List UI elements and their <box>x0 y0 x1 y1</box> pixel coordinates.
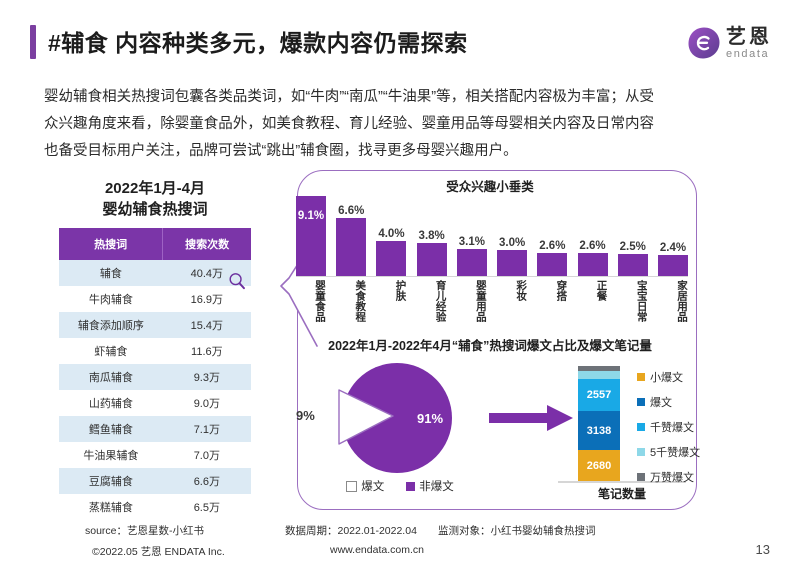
bar-rect <box>618 254 648 276</box>
bar-column[interactable]: 3.0% <box>497 196 527 276</box>
bar-category-label: 宝宝日常 <box>618 280 648 336</box>
pie-label-major: 91% <box>417 411 443 426</box>
cell-count: 7.1万 <box>163 416 251 442</box>
bar-chart-title: 受众兴趣小垂类 <box>315 176 665 195</box>
stack-segment-label: 2557 <box>587 389 611 401</box>
stack-legend-item[interactable]: 爆文 <box>637 394 715 410</box>
legend-swatch-icon <box>406 482 415 491</box>
bar-rect <box>296 196 326 276</box>
bar-rect <box>376 241 406 276</box>
cell-term: 山药辅食 <box>59 390 163 416</box>
bar-column[interactable]: 6.6% <box>336 196 366 276</box>
cell-count: 11.6万 <box>163 338 251 364</box>
stack-segment-label: 3138 <box>587 425 611 437</box>
slide-footer: source：艺恩星数-小红书 数据周期：2022.01-2022.04 监测对… <box>0 515 800 565</box>
legend-swatch-icon <box>346 481 357 492</box>
slide-header: #辅食 内容种类多元，爆款内容仍需探索 艺恩 endata <box>0 0 800 78</box>
table-row[interactable]: 虾辅食 11.6万 <box>59 338 251 364</box>
table-header-row: 热搜词 搜索次数 <box>59 228 251 260</box>
intro-paragraph: 婴幼辅食相关热搜词包囊各类品类词，如“牛肉”“南瓜”“牛油果”等，相关搭配内容极… <box>44 84 654 165</box>
bar-column[interactable]: 2.4% <box>658 196 688 276</box>
bar-rect <box>537 253 567 276</box>
footer-url[interactable]: www.endata.com.cn <box>330 544 424 556</box>
footer-copyright: ©2022.05 艺恩 ENDATA Inc. <box>92 544 225 559</box>
bar-rect <box>497 250 527 276</box>
legend-label: 非爆文 <box>419 478 454 494</box>
table-title-line1: 2022年1月-4月 <box>60 178 250 199</box>
bar-value-label: 2.5% <box>620 241 646 253</box>
stack-segment-label: 2680 <box>587 460 611 472</box>
bar-category-label: 穿搭 <box>537 280 567 336</box>
cell-term: 辅食添加顺序 <box>59 312 163 338</box>
bar-rect <box>457 249 487 276</box>
logo-cn-text: 艺恩 <box>726 27 772 47</box>
bar-category-label: 彩妆 <box>497 280 527 336</box>
cell-term: 鳕鱼辅食 <box>59 416 163 442</box>
legend-label: 小爆文 <box>650 369 683 385</box>
legend-swatch-icon <box>637 398 645 406</box>
page-title: #辅食 内容种类多元，爆款内容仍需探索 <box>48 24 468 58</box>
stack-segment-qianzan: 2557 <box>578 379 620 411</box>
cell-term: 豆腐辅食 <box>59 468 163 494</box>
bar-category-label: 家居用品 <box>658 280 688 336</box>
bar-column[interactable]: 2.5% <box>618 196 648 276</box>
bar-column[interactable]: 3.8% <box>417 196 447 276</box>
legend-label: 5千赞爆文 <box>650 444 700 460</box>
legend-label: 爆文 <box>650 394 672 410</box>
flow-arrow-icon <box>489 404 574 432</box>
page-number: 13 <box>756 542 770 557</box>
table-row[interactable]: 山药辅食 9.0万 <box>59 390 251 416</box>
bar-value-label: 2.6% <box>539 240 565 252</box>
table-row[interactable]: 辅食 40.4万 <box>59 260 251 286</box>
slide: #辅食 内容种类多元，爆款内容仍需探索 艺恩 endata <box>0 0 800 565</box>
pie-chart-title: 2022年1月-2022年4月“辅食”热搜词爆文占比及爆文笔记量 <box>300 335 680 354</box>
table-row[interactable]: 牛油果辅食 7.0万 <box>59 442 251 468</box>
stacked-bar-legend: 小爆文 爆文 千赞爆文 5千赞爆文 万赞爆文 <box>637 369 715 494</box>
endata-logo: 艺恩 endata <box>687 23 772 63</box>
cell-count: 15.4万 <box>163 312 251 338</box>
table-body: 辅食 40.4万 牛肉辅食 16.9万 辅食添加顺序 15.4万 虾辅食 11.… <box>59 260 251 520</box>
table-title-line2: 婴幼辅食热搜词 <box>60 199 250 220</box>
bar-column[interactable]: 9.1% <box>296 196 326 276</box>
legend-label: 千赞爆文 <box>650 419 694 435</box>
cell-count: 9.0万 <box>163 390 251 416</box>
legend-swatch-icon <box>637 373 645 381</box>
stack-segment-baowen: 3138 <box>578 411 620 450</box>
table-row[interactable]: 牛肉辅食 16.9万 <box>59 286 251 312</box>
title-accent-bar <box>30 25 36 59</box>
bar-column[interactable]: 4.0% <box>376 196 406 276</box>
bar-column[interactable]: 2.6% <box>578 196 608 276</box>
bar-column[interactable]: 2.6% <box>537 196 567 276</box>
stack-legend-item[interactable]: 小爆文 <box>637 369 715 385</box>
bar-category-label: 婴童用品 <box>457 280 487 336</box>
stacked-bar-chart[interactable]: 2557 3138 2680 <box>578 366 620 481</box>
bar-category-label: 正餐 <box>578 280 608 336</box>
pie-label-minor: 9% <box>296 408 315 423</box>
bar-category-label: 护肤 <box>376 280 406 336</box>
legend-swatch-icon <box>637 448 645 456</box>
bar-value-label: 4.0% <box>378 228 404 240</box>
bar-chart-bars: 9.1% 6.6% 4.0% 3.8% 3.1% 3.0% 2.6% 2.6% <box>296 196 688 276</box>
pie-legend-item[interactable]: 爆文 <box>346 478 384 494</box>
cell-term: 辅食 <box>59 260 163 286</box>
legend-swatch-icon <box>637 423 645 431</box>
bar-rect <box>336 218 366 276</box>
endata-logo-mark-icon <box>687 26 721 60</box>
bar-chart-axis <box>296 276 688 277</box>
bar-column[interactable]: 3.1% <box>457 196 487 276</box>
logo-en-text: endata <box>726 49 772 60</box>
bar-value-label: 2.6% <box>579 240 605 252</box>
bar-category-label: 育儿经验 <box>417 280 447 336</box>
stack-segment-5qianzan <box>578 371 620 379</box>
bar-rect <box>578 253 608 276</box>
hot-search-table: 热搜词 搜索次数 辅食 40.4万 牛肉辅食 16.9万 辅食添加顺序 15.4… <box>59 228 251 520</box>
bar-value-label: 3.8% <box>419 230 445 242</box>
footer-target: 监测对象：小红书婴幼辅食热搜词 <box>438 523 596 538</box>
table-row[interactable]: 南瓜辅食 9.3万 <box>59 364 251 390</box>
bar-value-label: 3.1% <box>459 236 485 248</box>
table-row[interactable]: 豆腐辅食 6.6万 <box>59 468 251 494</box>
table-title: 2022年1月-4月 婴幼辅食热搜词 <box>60 178 250 220</box>
bar-value-label: 9.1% <box>296 210 326 222</box>
stack-legend-item[interactable]: 5千赞爆文 <box>637 444 715 460</box>
logo-text: 艺恩 endata <box>726 27 772 60</box>
bar-category-label: 美食教程 <box>336 280 366 336</box>
bar-value-label: 2.4% <box>660 242 686 254</box>
cell-term: 南瓜辅食 <box>59 364 163 390</box>
table-col-header-term: 热搜词 <box>59 228 163 260</box>
legend-label: 爆文 <box>361 478 384 494</box>
pie-chart[interactable] <box>325 358 465 478</box>
table-row[interactable]: 鳕鱼辅食 7.1万 <box>59 416 251 442</box>
bar-category-label: 婴童食品 <box>296 280 326 336</box>
cell-count: 6.6万 <box>163 468 251 494</box>
pie-legend: 爆文 非爆文 <box>320 478 480 494</box>
stack-legend-item[interactable]: 万赞爆文 <box>637 469 715 485</box>
bar-rect <box>658 255 688 276</box>
table-col-header-count: 搜索次数 <box>163 228 251 260</box>
legend-label: 万赞爆文 <box>650 469 694 485</box>
cell-term: 虾辅食 <box>59 338 163 364</box>
pie-legend-item[interactable]: 非爆文 <box>406 478 454 494</box>
cell-count: 9.3万 <box>163 364 251 390</box>
cell-count: 16.9万 <box>163 286 251 312</box>
cell-term: 牛肉辅食 <box>59 286 163 312</box>
bar-chart-category-labels: 婴童食品 美食教程 护肤 育儿经验 婴童用品 彩妆 穿搭 正餐 宝宝日常 家居用… <box>296 280 688 336</box>
cell-term: 牛油果辅食 <box>59 442 163 468</box>
footer-period: 数据周期：2022.01-2022.04 <box>285 523 417 538</box>
table-row[interactable]: 辅食添加顺序 15.4万 <box>59 312 251 338</box>
cell-count: 40.4万 <box>163 260 251 286</box>
footer-source: source：艺恩星数-小红书 <box>85 523 204 538</box>
bar-value-label: 3.0% <box>499 237 525 249</box>
bar-value-label: 6.6% <box>338 205 364 217</box>
cell-count: 7.0万 <box>163 442 251 468</box>
legend-swatch-icon <box>637 473 645 481</box>
bar-rect <box>417 243 447 276</box>
stack-legend-item[interactable]: 千赞爆文 <box>637 419 715 435</box>
stack-segment-xiaobaowen: 2680 <box>578 450 620 481</box>
